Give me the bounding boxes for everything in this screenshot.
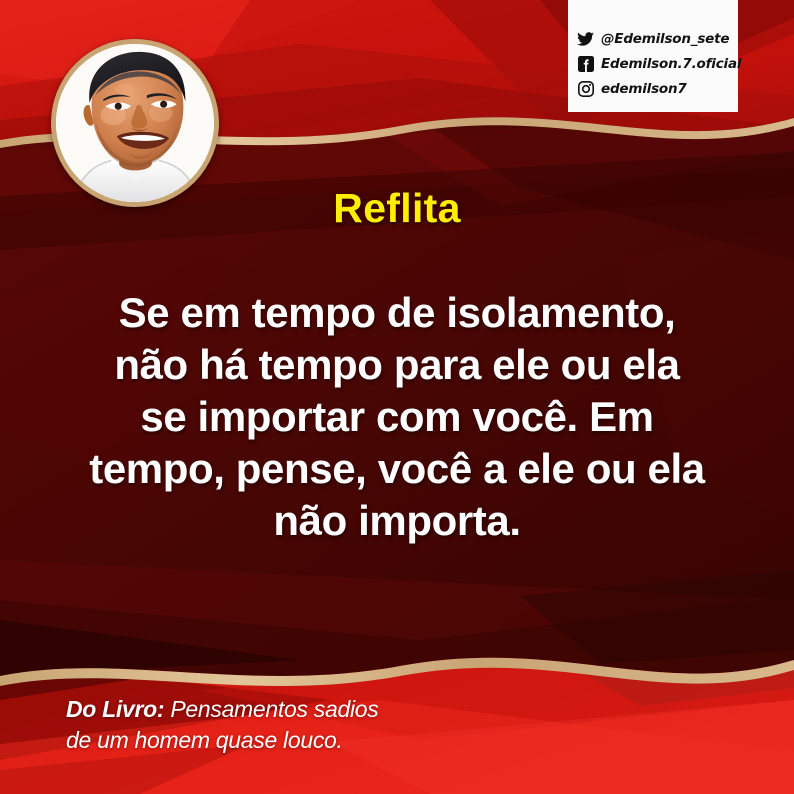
- quote-card: @Edemilson_sete Edemilson.7.oficial edem…: [0, 0, 794, 794]
- attribution-line-2: de um homem quase louco.: [66, 725, 706, 756]
- social-row-twitter[interactable]: @Edemilson_sete: [575, 26, 738, 51]
- quote-text: Se em tempo de isolamento, não há tempo …: [47, 287, 747, 547]
- quote-line-4: tempo, pense, você a ele ou ela: [47, 443, 747, 495]
- facebook-icon: [575, 54, 596, 73]
- book-title-part-1: Pensamentos sadios: [164, 696, 378, 722]
- avatar: [51, 39, 219, 207]
- attribution-label: Do Livro:: [66, 696, 164, 722]
- twitter-handle: @Edemilson_sete: [601, 31, 729, 47]
- portrait-illustration: [56, 44, 214, 202]
- social-row-instagram[interactable]: edemilson7: [575, 76, 738, 101]
- quote-line-2: não há tempo para ele ou ela: [47, 339, 747, 391]
- facebook-handle: Edemilson.7.oficial: [601, 56, 741, 72]
- social-row-facebook[interactable]: Edemilson.7.oficial: [575, 51, 738, 76]
- attribution-line-1: Do Livro: Pensamentos sadios: [66, 694, 706, 725]
- quote-line-1: Se em tempo de isolamento,: [47, 287, 747, 339]
- page-title: Reflita: [0, 185, 794, 232]
- social-handles-panel: @Edemilson_sete Edemilson.7.oficial edem…: [568, 0, 738, 112]
- twitter-icon: [575, 29, 596, 48]
- quote-line-3: se importar com você. Em: [47, 391, 747, 443]
- book-attribution: Do Livro: Pensamentos sadios de um homem…: [66, 694, 706, 756]
- instagram-icon: [575, 79, 596, 98]
- quote-line-5: não importa.: [47, 495, 747, 547]
- instagram-handle: edemilson7: [601, 81, 687, 97]
